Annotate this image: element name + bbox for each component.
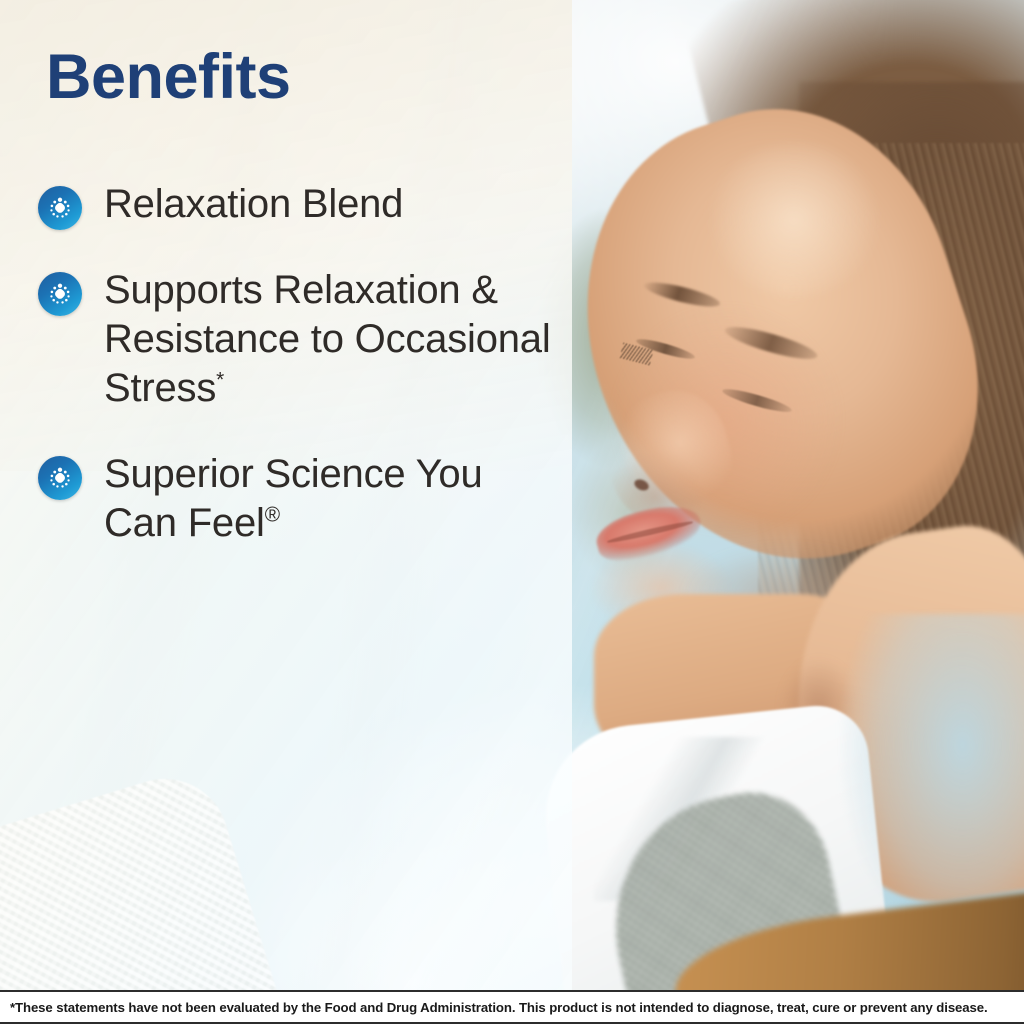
benefit-superscript: * [216, 369, 224, 392]
list-item: Relaxation Blend [38, 180, 558, 230]
benefit-superscript: ® [265, 503, 280, 526]
copy-panel: Benefits [0, 0, 572, 1024]
benefit-text: Supports Relaxation & Resistance to Occa… [104, 268, 551, 410]
disclaimer-bar: *These statements have not been evaluate… [0, 990, 1024, 1024]
list-item-label: Supports Relaxation & Resistance to Occa… [104, 266, 558, 414]
list-item: Superior Science You Can Feel® [38, 450, 558, 548]
molecule-badge-icon [38, 456, 82, 500]
disclaimer-text: *These statements have not been evaluate… [10, 1000, 988, 1015]
list-item: Supports Relaxation & Resistance to Occa… [38, 266, 558, 414]
benefit-text: Superior Science You Can Feel [104, 452, 483, 545]
marketing-image: Benefits [0, 0, 1024, 1024]
list-item-label: Relaxation Blend [104, 180, 403, 229]
molecule-badge-icon [38, 272, 82, 316]
benefits-list: Relaxation Blend [38, 180, 558, 584]
molecule-badge-icon [38, 186, 82, 230]
benefit-text: Relaxation Blend [104, 182, 403, 226]
page-title: Benefits [46, 44, 291, 110]
list-item-label: Superior Science You Can Feel® [104, 450, 558, 548]
